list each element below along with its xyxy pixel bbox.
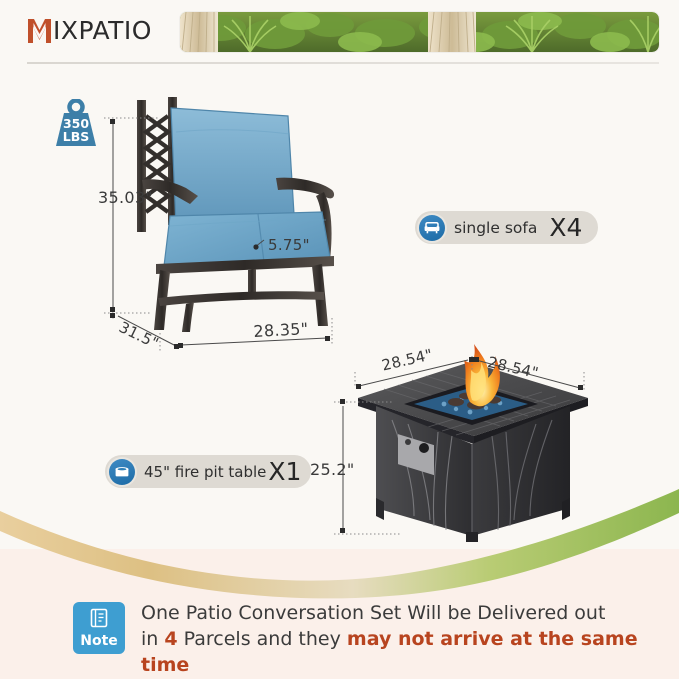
firepit-height-dimension: 25.2": [310, 460, 354, 479]
sofa-icon: [419, 215, 445, 241]
notebook-icon: [89, 608, 109, 632]
fire-pit-table-label[interactable]: 45" fire pit table X1: [105, 455, 311, 488]
header-banner-image: [180, 12, 659, 52]
note-line2-prefix: in: [141, 628, 164, 650]
chair-width-dimension: 28.35": [253, 319, 309, 341]
weight-capacity-badge: 350 LBS: [52, 99, 100, 149]
note-line1: One Patio Conversation Set Will be Deliv…: [141, 602, 605, 624]
single-sofa-label[interactable]: single sofa X4: [415, 211, 598, 244]
chair-cushion-dimension: 5.75": [268, 236, 310, 254]
page-header: IXPATIO: [0, 0, 679, 64]
infographic-page: IXPATIO: [0, 0, 679, 679]
fire-pit-table-qty: X1: [268, 459, 301, 484]
note-parcel-count: 4: [164, 628, 177, 650]
delivery-note: Note One Patio Conversation Set Will be …: [73, 600, 679, 678]
single-sofa-qty: X4: [549, 215, 582, 240]
brand-name: IXPATIO: [53, 18, 152, 44]
fire-pit-table-name: 45" fire pit table: [144, 463, 266, 481]
note-badge-label: Note: [80, 634, 118, 648]
note-text: One Patio Conversation Set Will be Deliv…: [141, 600, 679, 678]
note-line2-mid: Parcels and they: [178, 628, 347, 650]
note-badge: Note: [73, 602, 125, 654]
m-logo-icon: [27, 18, 52, 44]
chair-height-dimension: 35.03": [98, 188, 153, 207]
weight-unit: LBS: [63, 129, 90, 144]
table-icon: [109, 459, 135, 485]
header-divider: [27, 62, 659, 64]
single-sofa-name: single sofa: [454, 219, 537, 237]
single-sofa-image: [126, 92, 366, 342]
brand-logo: IXPATIO: [27, 16, 152, 46]
